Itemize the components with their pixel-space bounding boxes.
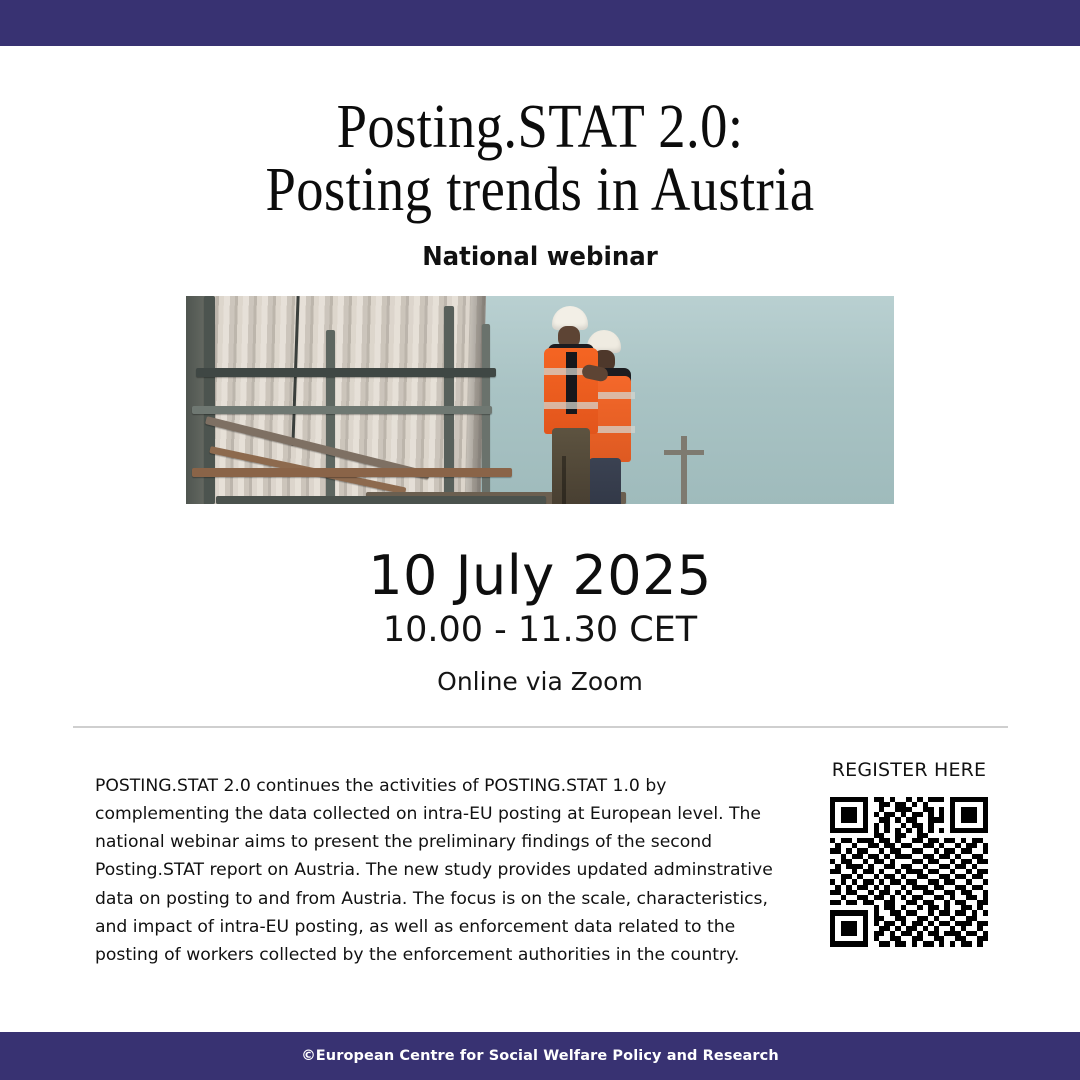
bottom-brand-bar: ©European Centre for Social Welfare Poli… [0,1032,1080,1080]
page-title-line-2: Posting trends in Austria [65,159,1015,222]
footer-copyright: ©European Centre for Social Welfare Poli… [301,1048,779,1064]
scaffold-pipe-horizontal [192,406,492,414]
hero-photo [186,296,894,504]
page-subtitle: National webinar [32,242,1047,272]
vest-reflective-band [544,402,598,409]
distant-pole [681,436,687,504]
worker-legs [552,428,590,504]
distant-pole-arm [664,450,704,455]
qr-code[interactable] [830,797,988,947]
worker-first [544,306,600,504]
hero-photo-sky [186,296,894,504]
register-label: REGISTER HERE [832,759,987,781]
poster-body: Posting.STAT 2.0: Posting trends in Aust… [0,46,1080,1032]
event-time: 10.00 - 11.30 CET [0,611,1080,650]
scaffold-pipe-horizontal [216,496,546,504]
poster: Posting.STAT 2.0: Posting trends in Aust… [0,0,1080,1080]
top-brand-bar [0,0,1080,46]
page-title-line-1: Posting.STAT 2.0: [65,96,1015,159]
scaffold-pipe-horizontal [196,368,496,377]
scaffold-pipe-rusty [192,468,512,477]
event-location: Online via Zoom [0,667,1080,696]
event-details: 10 July 2025 10.00 - 11.30 CET Online vi… [0,548,1080,695]
title-block: Posting.STAT 2.0: Posting trends in Aust… [0,46,1080,272]
scaffold-pipe-vertical [482,324,490,504]
worker-leg-split [562,456,566,504]
event-date: 10 July 2025 [0,548,1080,605]
description-text: POSTING.STAT 2.0 continues the activitie… [95,772,785,969]
lower-section: POSTING.STAT 2.0 continues the activitie… [0,728,1080,987]
register-block: REGISTER HERE [809,755,1009,947]
